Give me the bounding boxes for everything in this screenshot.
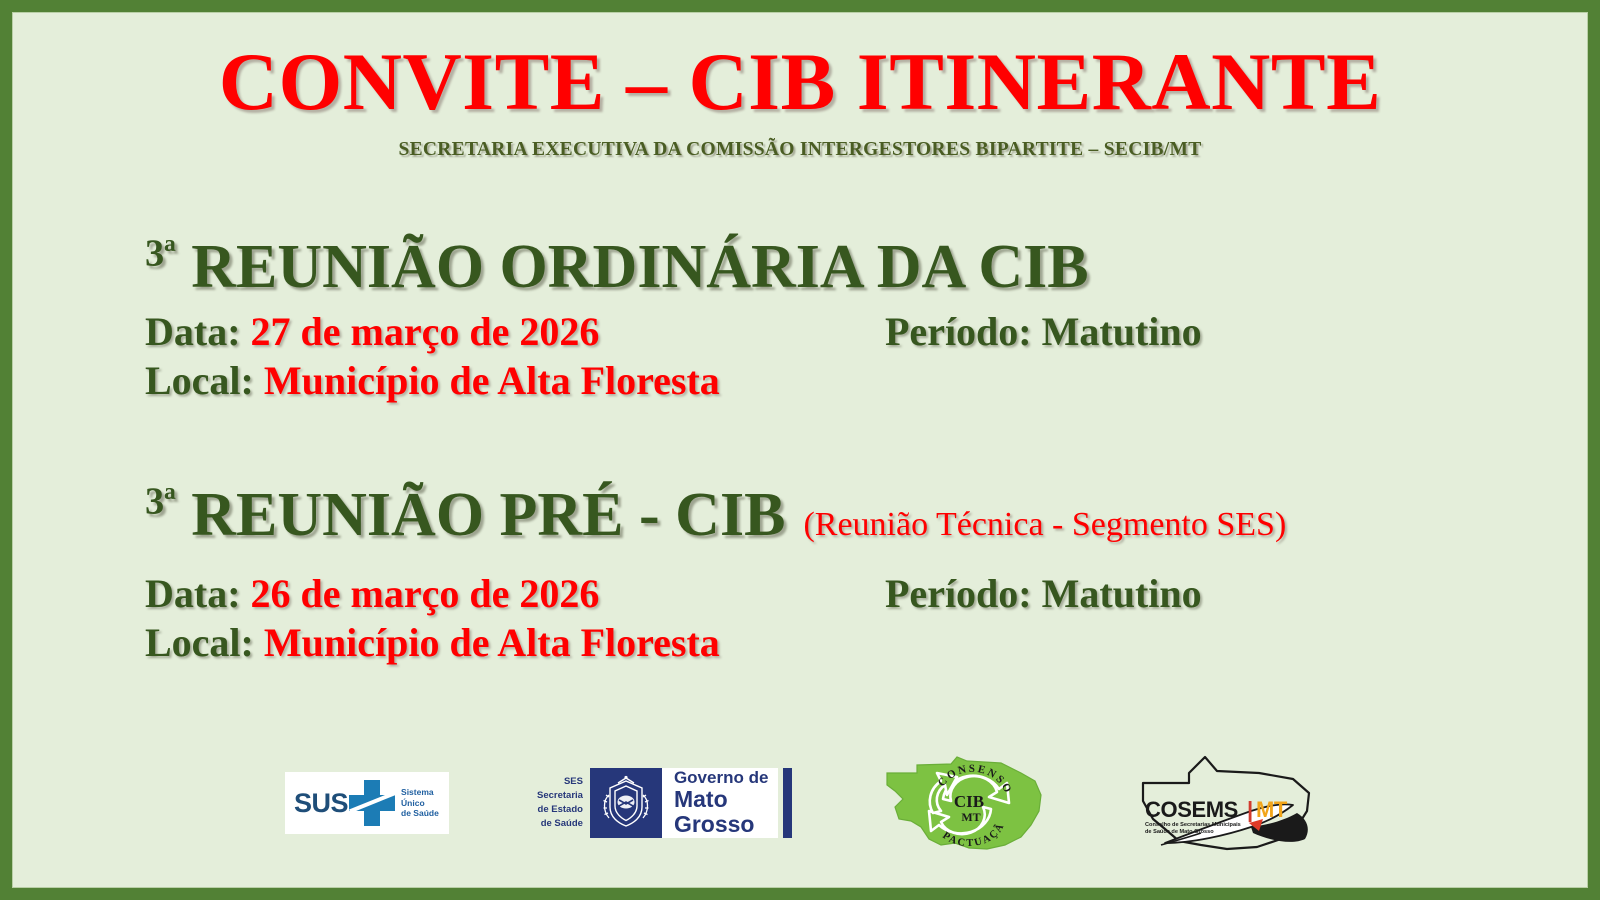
meeting-place-row: Local: Município de Alta Floresta — [145, 619, 1527, 668]
cosems-wordmark: COSEMS — [1145, 797, 1238, 822]
meeting-heading-row: 3ª REUNIÃO ORDINÁRIA DA CIB — [145, 235, 1527, 300]
period-value: Período: Matutino — [885, 570, 1202, 619]
ses-line1: SES — [537, 775, 583, 789]
sus-tagline-line3: de Saúde — [401, 808, 439, 819]
meeting-place-row: Local: Município de Alta Floresta — [145, 357, 1527, 406]
sus-tagline-line1: Sistema — [401, 787, 439, 798]
date-value: 27 de março de 2026 — [251, 308, 600, 357]
meeting-block-pre-cib: 3ª REUNIÃO PRÉ - CIB (Reunião Técnica - … — [145, 483, 1527, 668]
logo-row: SUS Sistema Único de Saúde SES Secretari… — [13, 749, 1587, 859]
cib-center-line1: CIB — [954, 792, 984, 811]
sus-tagline-line2: Único — [401, 798, 439, 809]
sus-logo: SUS Sistema Único de Saúde — [285, 772, 449, 834]
gov-line3: Grosso — [674, 812, 768, 837]
ses-line4: de Saúde — [537, 817, 583, 831]
poster-inner-frame: CONVITE – CIB ITINERANTE SECRETARIA EXEC… — [12, 12, 1588, 888]
page-title: CONVITE – CIB ITINERANTE — [13, 13, 1587, 123]
meeting-ordinal: 3ª — [145, 480, 176, 522]
cib-mt-logo: CONSENSO PACTUAÇÃO CIB MT — [881, 751, 1049, 860]
place-value: Município de Alta Floresta — [264, 357, 720, 406]
gov-line2: Mato — [674, 787, 768, 812]
ses-line3: de Estado — [537, 803, 583, 817]
ses-text-block: SES Secretaria de Estado de Saúde — [537, 775, 590, 830]
place-label: Local: — [145, 357, 254, 406]
date-label: Data: — [145, 308, 241, 357]
gov-line1: Governo de — [674, 769, 768, 787]
cosems-separator: | — [1247, 797, 1253, 822]
cosems-tagline-line2: de Saúde de Mato Grosso — [1145, 829, 1214, 835]
meeting-block-ordinaria: 3ª REUNIÃO ORDINÁRIA DA CIB Data: 27 de … — [145, 235, 1527, 406]
place-label: Local: — [145, 619, 254, 668]
mato-grosso-coat-of-arms-icon — [590, 768, 662, 838]
meeting-heading-text: REUNIÃO PRÉ - CIB — [176, 481, 786, 549]
ses-governo-mt-logo: SES Secretaria de Estado de Saúde — [537, 768, 792, 838]
meeting-ordinal: 3ª — [145, 232, 176, 274]
place-value: Município de Alta Floresta — [264, 619, 720, 668]
gov-accent-bar — [783, 768, 792, 838]
governo-mt-wordmark: Governo de Mato Grosso — [662, 768, 778, 838]
meeting-heading: 3ª REUNIÃO PRÉ - CIB — [145, 483, 785, 548]
poster-canvas: CONVITE – CIB ITINERANTE SECRETARIA EXEC… — [0, 0, 1600, 900]
sus-wordmark: SUS — [294, 788, 348, 819]
cosems-mt-logo: COSEMS | MT Conselho de Secretarias Muni… — [1131, 749, 1321, 862]
date-value: 26 de março de 2026 — [251, 570, 600, 619]
ses-line2: Secretaria — [537, 789, 583, 803]
meeting-heading-note: (Reunião Técnica - Segmento SES) — [803, 506, 1286, 544]
meeting-date-row: Data: 26 de março de 2026 Período: Matut… — [145, 570, 1527, 619]
cosems-state: MT — [1256, 797, 1288, 822]
cosems-tagline-line1: Conselho de Secretarias Municipais — [1145, 822, 1241, 828]
cib-center-line2: MT — [961, 810, 980, 824]
meeting-heading-row: 3ª REUNIÃO PRÉ - CIB (Reunião Técnica - … — [145, 483, 1527, 548]
page-subtitle: SECRETARIA EXECUTIVA DA COMISSÃO INTERGE… — [13, 123, 1587, 161]
meeting-heading: 3ª REUNIÃO ORDINÁRIA DA CIB — [145, 235, 1089, 300]
sus-tagline: Sistema Único de Saúde — [401, 787, 439, 819]
meeting-heading-text: REUNIÃO ORDINÁRIA DA CIB — [176, 233, 1089, 301]
meeting-date-row: Data: 27 de março de 2026 Período: Matut… — [145, 308, 1527, 357]
sus-cross-icon — [349, 780, 395, 826]
period-value: Período: Matutino — [885, 308, 1202, 357]
date-label: Data: — [145, 570, 241, 619]
